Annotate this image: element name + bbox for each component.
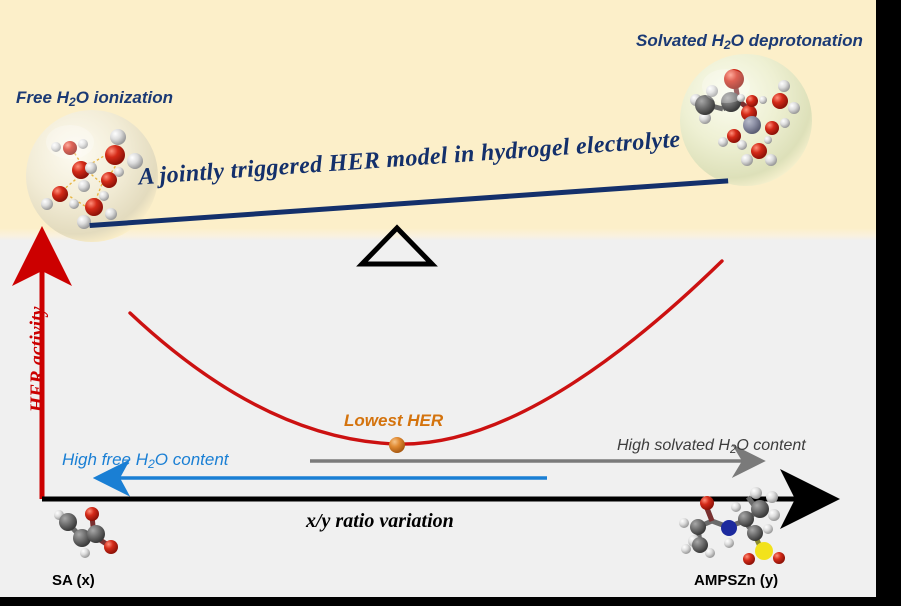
zinc-ion <box>743 116 761 134</box>
solvated-water-deprotonation-label: Solvated H2O deprotonation <box>636 31 863 52</box>
x-axis-label: x/y ratio variation <box>306 510 454 533</box>
lowest-her-label: Lowest HER <box>344 411 443 431</box>
ampszn-monomer-label: AMPSZn (y) <box>694 572 778 589</box>
figure-canvas: Free H2O ionization <box>0 0 901 606</box>
high-solvated-water-label: High solvated H2O content <box>617 437 806 456</box>
free-water-ionization-label: Free H2O ionization <box>16 88 173 109</box>
ampszn-monomer-structure <box>676 483 801 575</box>
y-axis-label: HER activity <box>27 290 50 430</box>
high-free-water-label: High free H2O content <box>62 450 229 471</box>
right-border-band <box>876 0 901 606</box>
lowest-her-marker <box>389 437 405 453</box>
bottom-border-band <box>0 597 901 606</box>
sa-monomer-label: SA (x) <box>52 572 95 589</box>
sa-monomer-structure <box>46 503 128 569</box>
